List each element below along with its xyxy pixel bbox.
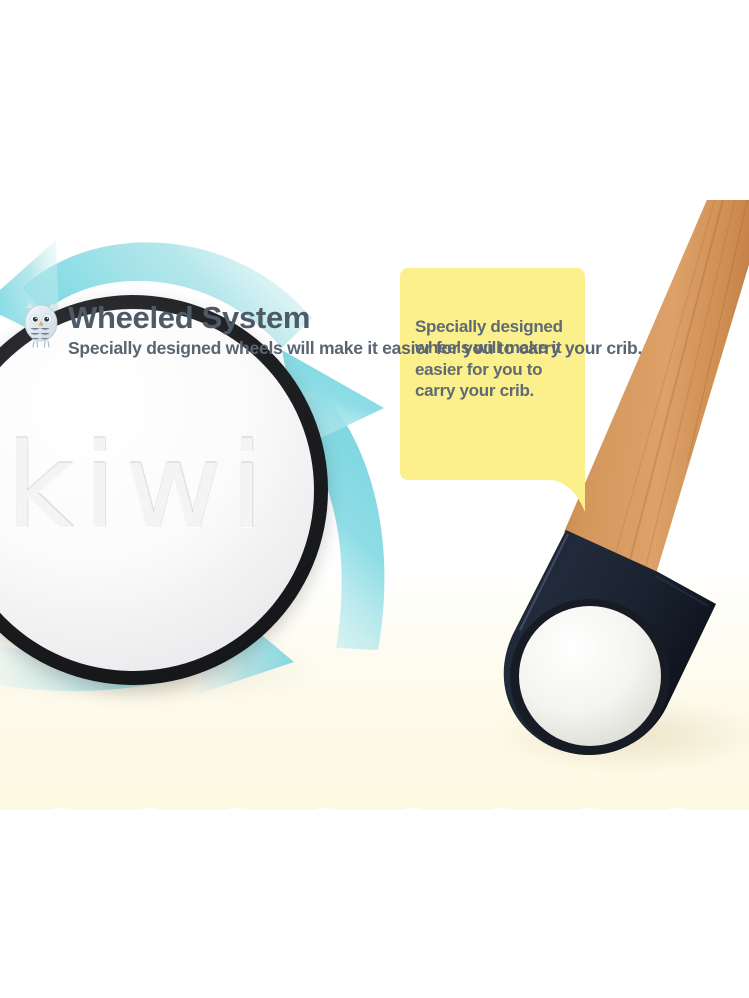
kiwi-logo-emboss: kiwi (0, 309, 314, 671)
page-subtitle: Specially designed wheels will make it e… (68, 338, 668, 359)
page-title: Wheeled System (68, 300, 310, 336)
kiwi-brand-label: kiwi (6, 417, 272, 555)
background-lower (0, 812, 749, 998)
owl-icon (22, 302, 60, 348)
caster-wheel (510, 599, 670, 755)
wheel-hub: kiwi (0, 309, 314, 671)
callout-bubble-tail (552, 460, 598, 518)
wheeled-system-panel: kiwi (0, 0, 749, 998)
header-block: Wheeled System Specially designed wheels… (0, 148, 749, 240)
